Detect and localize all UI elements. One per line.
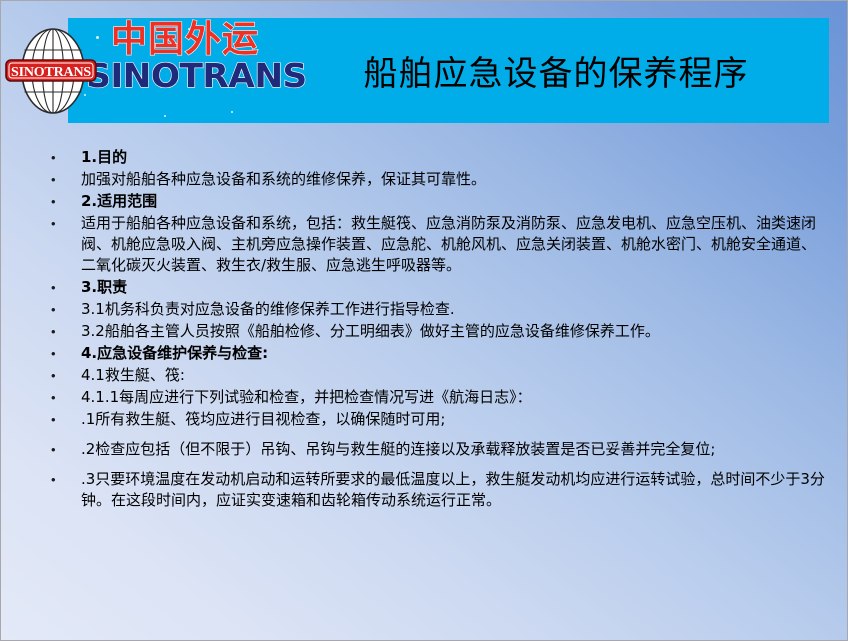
logo-chinese-name: 中国外运 bbox=[90, 22, 280, 58]
list-item-text: 4.1.1每周应进行下列试验和检查，并把检查情况写进《航海日志》： bbox=[81, 387, 827, 408]
presentation-slide: 中国外运 SINOTRANS 船舶应急设备的保养程序 SINOTRANS bbox=[0, 0, 848, 641]
list-item-text: .2检查应包括（但不限于）吊钩、吊钩与救生艇的连接以及承载释放装置是否已妥善并完… bbox=[81, 439, 827, 460]
bullet-icon: • bbox=[51, 321, 81, 342]
bullet-icon: • bbox=[51, 147, 81, 168]
header-banner: 中国外运 SINOTRANS 船舶应急设备的保养程序 bbox=[68, 18, 829, 123]
spacer bbox=[1, 461, 848, 469]
list-item-text: 1.目的 bbox=[81, 147, 827, 168]
bullet-icon: • bbox=[51, 191, 81, 212]
list-item: • 2.适用范围 bbox=[1, 191, 848, 212]
list-item: • .1所有救生艇、筏均应进行目视检查，以确保随时可用; bbox=[1, 409, 848, 430]
list-item-text: 2.适用范围 bbox=[81, 191, 827, 212]
bullet-icon: • bbox=[51, 213, 81, 234]
list-item: • .2检查应包括（但不限于）吊钩、吊钩与救生艇的连接以及承载释放装置是否已妥善… bbox=[1, 439, 848, 460]
list-item-text: 3.1机务科负责对应急设备的维修保养工作进行指导检查. bbox=[81, 299, 827, 320]
sinotrans-globe-logo-icon: SINOTRANS bbox=[5, 23, 101, 119]
list-item: • 3.1机务科负责对应急设备的维修保养工作进行指导检查. bbox=[1, 299, 848, 320]
list-item: • 4.1救生艇、筏: bbox=[1, 365, 848, 386]
bullet-icon: • bbox=[51, 469, 81, 490]
emblem-wordmark: SINOTRANS bbox=[6, 62, 96, 83]
list-item-text: 3.2船舶各主管人员按照《船舶检修、分工明细表》做好主管的应急设备维修保养工作。 bbox=[81, 321, 827, 342]
body-content-list: • 1.目的 • 加强对船舶各种应急设备和系统的维修保养，保证其可靠性。 • 2… bbox=[1, 147, 848, 512]
spacer bbox=[1, 431, 848, 439]
bullet-icon: • bbox=[51, 439, 81, 460]
bullet-icon: • bbox=[51, 409, 81, 430]
list-item-text: 适用于船舶各种应急设备和系统，包括：救生艇筏、应急消防泵及消防泵、应急发电机、应… bbox=[81, 213, 827, 276]
list-item: • 4.应急设备维护保养与检查: bbox=[1, 343, 848, 364]
bullet-icon: • bbox=[51, 169, 81, 190]
page-title: 船舶应急设备的保养程序 bbox=[283, 18, 829, 123]
bullet-icon: • bbox=[51, 343, 81, 364]
list-item: • 1.目的 bbox=[1, 147, 848, 168]
list-item: • .3只要环境温度在发动机启动和运转所要求的最低温度以上，救生艇发动机均应进行… bbox=[1, 469, 848, 511]
list-item-text: .1所有救生艇、筏均应进行目视检查，以确保随时可用; bbox=[81, 409, 827, 430]
list-item: • 3.职责 bbox=[1, 277, 848, 298]
list-item-text: .3只要环境温度在发动机启动和运转所要求的最低温度以上，救生艇发动机均应进行运转… bbox=[81, 469, 827, 511]
bullet-icon: • bbox=[51, 365, 81, 386]
list-item-text: 3.职责 bbox=[81, 277, 827, 298]
list-item: • 4.1.1每周应进行下列试验和检查，并把检查情况写进《航海日志》： bbox=[1, 387, 848, 408]
bullet-icon: • bbox=[51, 277, 81, 298]
logo-english-name: SINOTRANS bbox=[86, 59, 284, 92]
bullet-icon: • bbox=[51, 299, 81, 320]
bullet-icon: • bbox=[51, 387, 81, 408]
list-item-text: 加强对船舶各种应急设备和系统的维修保养，保证其可靠性。 bbox=[81, 169, 827, 190]
list-item: • 适用于船舶各种应急设备和系统，包括：救生艇筏、应急消防泵及消防泵、应急发电机… bbox=[1, 213, 848, 276]
sparkle-dot bbox=[164, 115, 166, 117]
list-item-text: 4.应急设备维护保养与检查: bbox=[81, 343, 827, 364]
list-item: • 加强对船舶各种应急设备和系统的维修保养，保证其可靠性。 bbox=[1, 169, 848, 190]
list-item: • 3.2船舶各主管人员按照《船舶检修、分工明细表》做好主管的应急设备维修保养工… bbox=[1, 321, 848, 342]
sinotrans-logotype: 中国外运 SINOTRANS bbox=[90, 22, 280, 92]
list-item-text: 4.1救生艇、筏: bbox=[81, 365, 827, 386]
sparkle-dot bbox=[231, 111, 233, 113]
